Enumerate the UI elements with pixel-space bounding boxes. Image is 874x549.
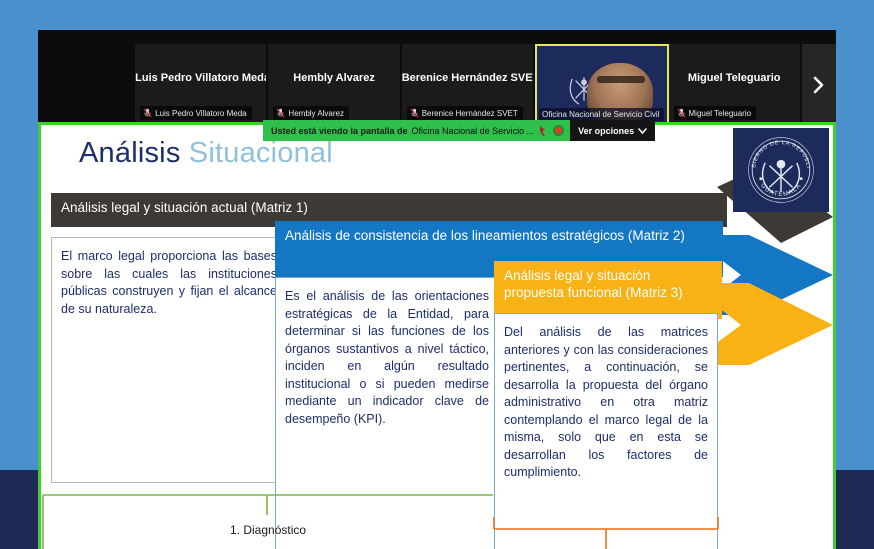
guatemala-logo-box: GOBIERNO DE LA REPÚBLICA GUATEMALA: [733, 128, 829, 212]
screenshare-notice-presenter: Oficina Nacional de Servicio ...: [412, 126, 535, 136]
gobierno-guatemala-seal-icon: GOBIERNO DE LA REPÚBLICA GUATEMALA: [745, 134, 817, 206]
participant-name: Hembly Alvarez: [268, 72, 399, 84]
screen-share-icon: [538, 125, 549, 137]
participant-badge-label: Oficina Nacional de Servicio Civil: [542, 110, 659, 119]
shared-slide: Análisis Situacional: [38, 122, 836, 549]
view-options-label: Ver opciones: [578, 126, 634, 136]
record-dot-icon: [553, 125, 564, 136]
participant-name: Luis Pedro Villatoro Meda: [135, 72, 266, 84]
screen-root: Luis Pedro Villatoro Meda Luis Pedro Vil…: [0, 0, 874, 549]
participant-badge-label: Hembly Alvarez: [288, 109, 344, 118]
participant-tile-strip: Luis Pedro Villatoro Meda Luis Pedro Vil…: [38, 44, 836, 125]
participant-tile[interactable]: Berenice Hernández SVET Berenice Hernánd…: [402, 44, 535, 125]
screenshare-notice-prefix: Usted está viendo la pantalla de: [271, 126, 408, 136]
participant-name-badge: Miguel Teleguario: [674, 106, 757, 120]
participant-badge-label: Luis Pedro Villatoro Meda: [155, 109, 246, 118]
participant-badge-label: Miguel Teleguario: [689, 109, 752, 118]
participant-tile[interactable]: Miguel Teleguario Miguel Teleguario: [669, 44, 802, 125]
participant-tile[interactable]: Hembly Alvarez Hembly Alvarez: [268, 44, 401, 125]
chevron-down-icon: [638, 128, 647, 134]
view-options-button[interactable]: Ver opciones: [570, 120, 655, 141]
page-title-part2: Situacional: [189, 137, 333, 169]
page-title-part1: Análisis: [79, 137, 181, 169]
propuesta-bracket: [486, 515, 726, 549]
participant-name: Berenice Hernández SVET: [402, 72, 533, 84]
desktop-background-navy-right: [836, 470, 874, 549]
page-title: Análisis Situacional: [79, 137, 333, 170]
participant-name-badge: Berenice Hernández SVET: [407, 106, 523, 120]
mic-muted-icon: [143, 108, 152, 118]
participant-name-badge: Luis Pedro Villatoro Meda: [140, 106, 251, 120]
desktop-background-top: [0, 0, 874, 30]
participant-name: Miguel Teleguario: [669, 72, 800, 84]
participant-name-badge: Hembly Alvarez: [273, 106, 349, 120]
mic-muted-icon: [276, 108, 285, 118]
next-participants-button[interactable]: [802, 44, 836, 125]
tile-strip-leading-gap: [38, 44, 135, 125]
matriz1-body: El marco legal proporciona las bases sob…: [51, 237, 287, 483]
desktop-background-navy-left: [0, 470, 38, 549]
mic-muted-icon: [677, 108, 686, 118]
matriz3-header: Análisis legal y situación propuesta fun…: [494, 261, 722, 319]
screenshare-notification-bar: Usted está viendo la pantalla de Oficina…: [263, 120, 655, 141]
meeting-participants-bar: Luis Pedro Villatoro Meda Luis Pedro Vil…: [38, 30, 836, 125]
participant-tile-active-speaker[interactable]: Oficina Nacional de Servicio Civil: [535, 44, 669, 125]
speaker-video-glasses: [597, 76, 645, 83]
diagnostico-caption: 1. Diagnóstico: [230, 523, 306, 537]
participant-badge-label: Berenice Hernández SVET: [422, 109, 518, 118]
participant-tile[interactable]: Luis Pedro Villatoro Meda Luis Pedro Vil…: [135, 44, 268, 125]
mic-muted-icon: [410, 108, 419, 118]
screenshare-notice: Usted está viendo la pantalla de Oficina…: [263, 120, 570, 141]
chevron-right-icon: [812, 76, 825, 94]
